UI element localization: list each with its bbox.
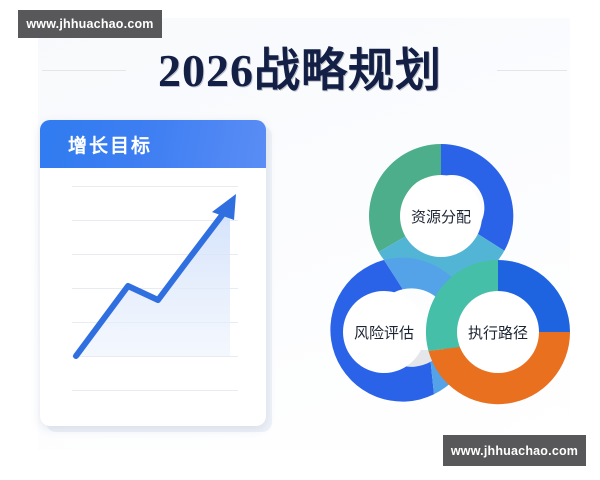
chart-area-fill	[76, 204, 230, 356]
page-title: 2026战略规划	[0, 34, 600, 100]
growth-line-chart	[40, 168, 266, 426]
growth-target-card: 增长目标	[40, 120, 266, 426]
slide-canvas: 2026战略规划 增长目标	[0, 0, 600, 480]
donut-label-execution-path: 执行路径	[468, 325, 528, 342]
chart-arrow-head	[212, 194, 236, 220]
watermark-bottom: www.jhhuachao.com	[443, 435, 586, 466]
card-header: 增长目标	[40, 120, 266, 168]
donut-ring-execution-path[interactable]: 执行路径	[426, 260, 570, 404]
strategy-donut-diagram: 资源分配 风险评估 执行路径	[296, 126, 586, 426]
card-header-label: 增长目标	[68, 131, 152, 158]
donut-label-resource-allocation: 资源分配	[411, 209, 471, 226]
chart-plot	[40, 168, 266, 426]
watermark-top: www.jhhuachao.com	[18, 10, 162, 38]
donut-label-risk-assessment: 风险评估	[354, 325, 414, 342]
